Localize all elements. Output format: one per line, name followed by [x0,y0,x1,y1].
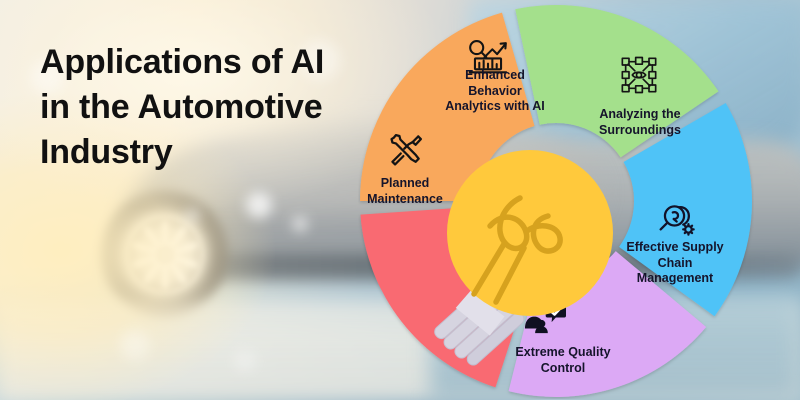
infographic-canvas: Applications of AI in the Automotive Ind… [0,0,800,400]
bokeh-light [292,216,308,232]
title-line-3: Industry [40,130,380,175]
title-line-1: Applications of AI [40,40,380,85]
bokeh-light [120,330,150,360]
bulb-glass [447,150,613,316]
lightbulb-icon [412,140,627,370]
bokeh-light [234,350,256,372]
bokeh-light [246,192,272,218]
title-line-2: in the Automotive [40,85,380,130]
bokeh-light [186,208,200,222]
page-title: Applications of AI in the Automotive Ind… [40,40,380,176]
